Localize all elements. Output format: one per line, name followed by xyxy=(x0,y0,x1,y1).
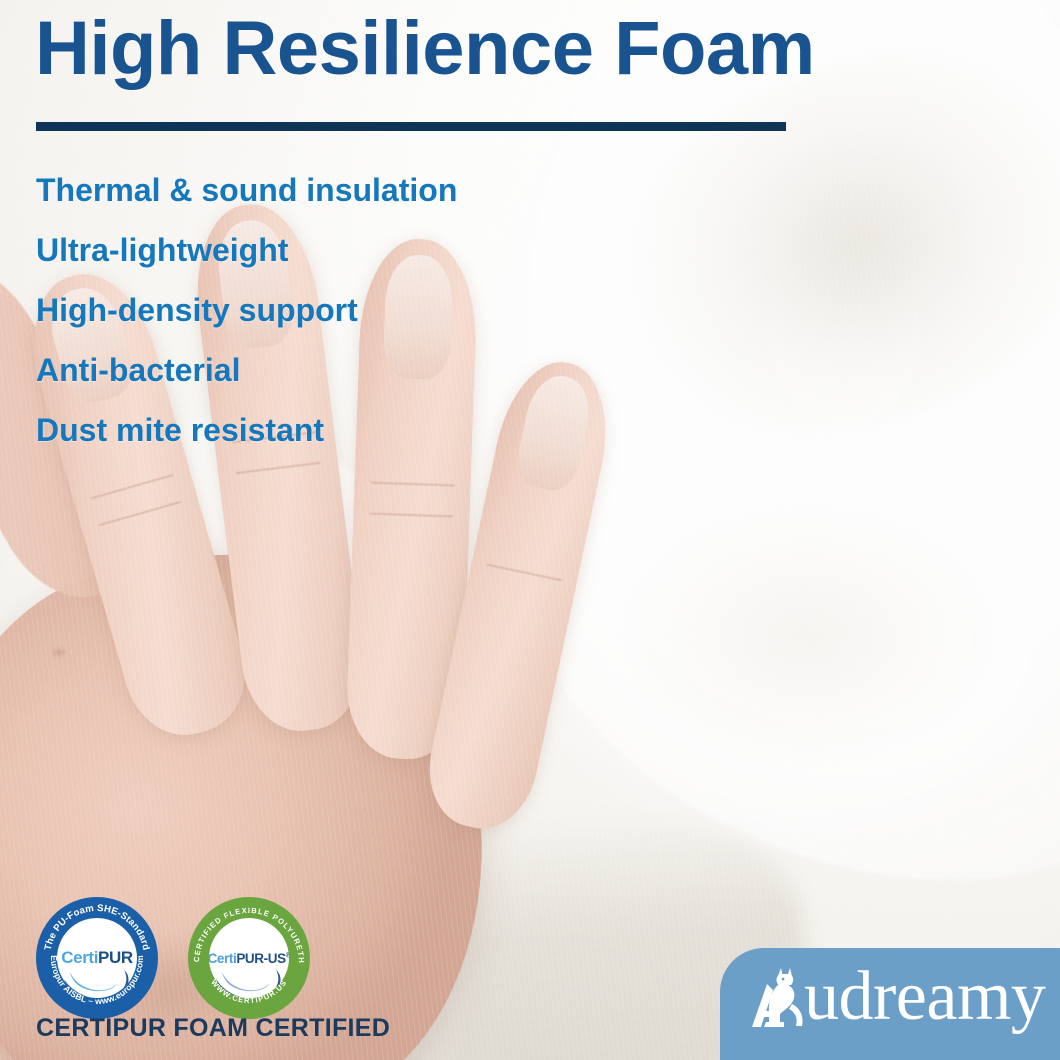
certification-caption: CERTIPUR FOAM CERTIFIED xyxy=(36,1014,390,1043)
certipur-us-badge: CONTAINS CERTIFIED FLEXIBLE POLYURETHANE… xyxy=(188,897,310,1019)
registered-mark: ® xyxy=(286,952,289,959)
certipur-eu-badge: The PU-Foam SHE-Standard Europur AISBL –… xyxy=(36,897,158,1019)
feature-item: Anti-bacterial xyxy=(36,340,656,400)
feature-item: High-density support xyxy=(36,280,656,340)
page-title: High Resilience Foam xyxy=(35,8,815,90)
kangaroo-icon xyxy=(748,964,810,1030)
brand-wordmark: udreamy xyxy=(804,962,1045,1032)
wordmark-pur: PUR xyxy=(98,948,133,967)
brand-logo-panel: udreamy xyxy=(720,948,1060,1060)
certification-badges: The PU-Foam SHE-Standard Europur AISBL –… xyxy=(36,897,336,1022)
swoosh-icon xyxy=(212,963,286,998)
certipur-eu-badge-face: CertiPUR xyxy=(57,918,137,998)
feature-item: Dust mite resistant xyxy=(36,400,656,460)
feature-list: Thermal & sound insulation Ultra-lightwe… xyxy=(36,160,656,460)
certipur-eu-wordmark: CertiPUR xyxy=(61,948,132,968)
wordmark-certi: Certi xyxy=(61,948,98,967)
feature-item: Thermal & sound insulation xyxy=(36,160,656,220)
title-underline-rule xyxy=(36,122,786,131)
certipur-us-badge-face: CertiPUR-US® xyxy=(209,918,289,998)
feature-item: Ultra-lightweight xyxy=(36,220,656,280)
wordmark-pur-us: PUR-US xyxy=(236,951,285,966)
swoosh-icon xyxy=(60,963,134,998)
certipur-us-wordmark: CertiPUR-US® xyxy=(209,951,289,966)
product-feature-image: High Resilience Foam Thermal & sound ins… xyxy=(0,0,1060,1060)
wordmark-certi: Certi xyxy=(209,951,236,966)
